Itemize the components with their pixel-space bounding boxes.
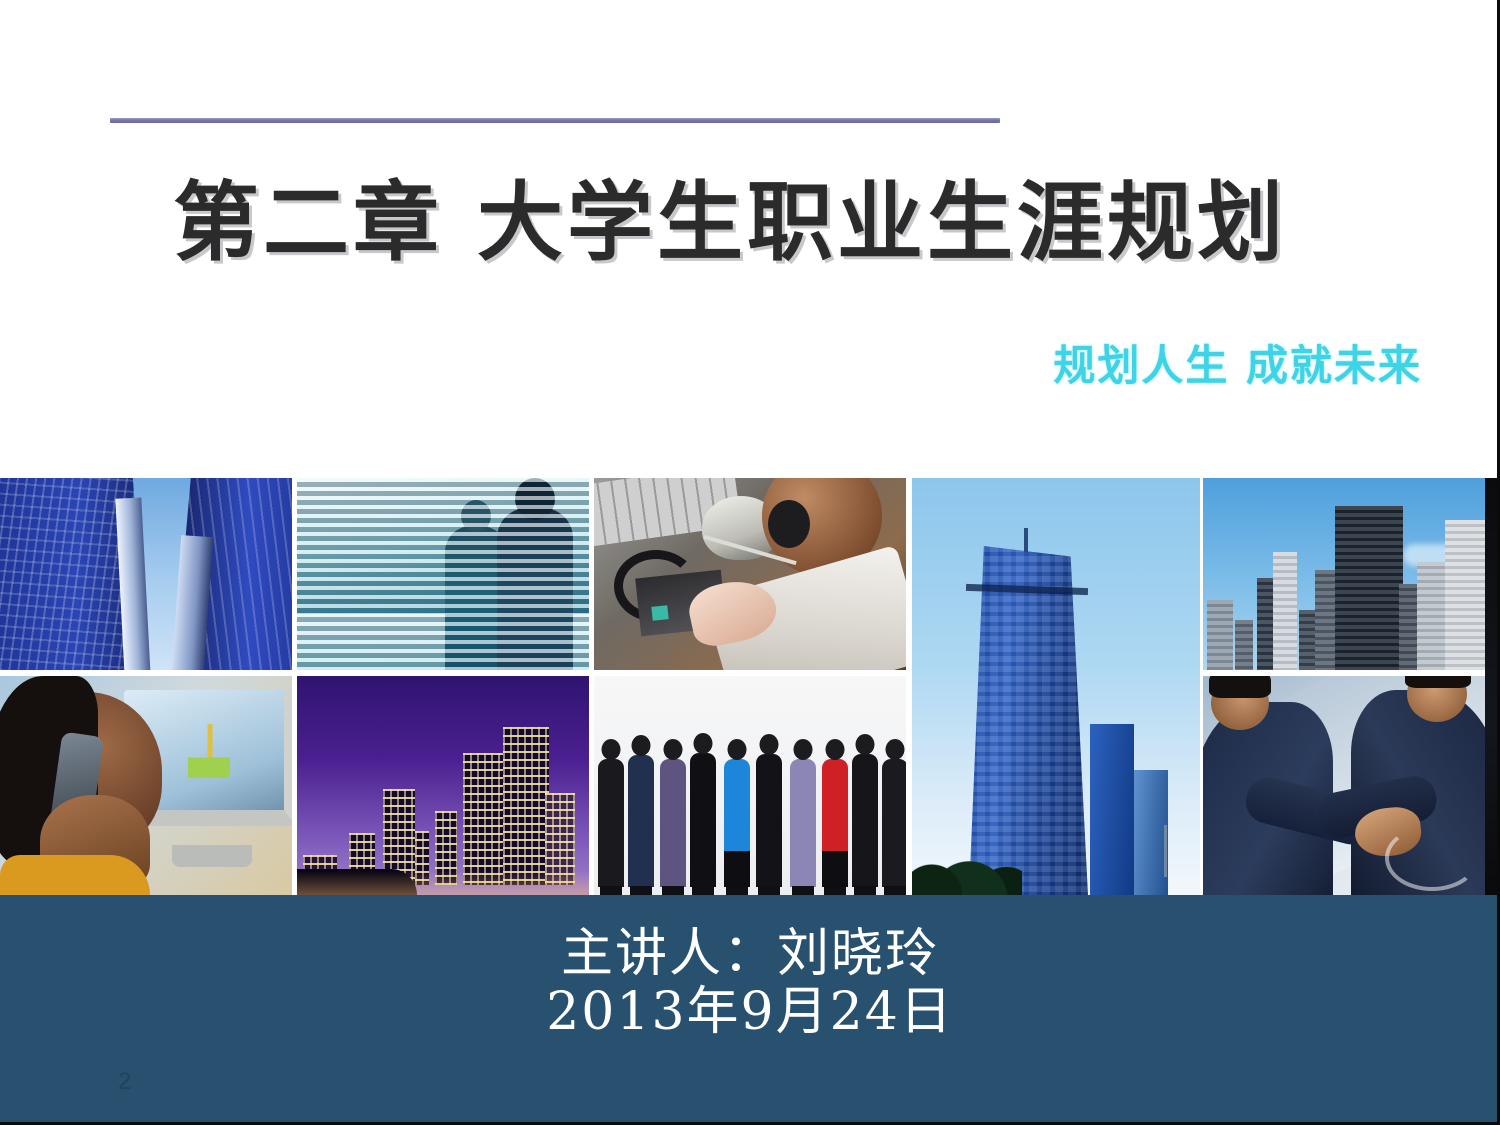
night-building [503,727,549,885]
skyline-building [1335,506,1403,670]
woman-shirt [0,855,150,895]
skyline-building [1445,520,1485,670]
businessmen-handshake-photo [1203,676,1485,895]
presentation-slide: 第二章 大学生职业生涯规划 规划人生 成就未来 [0,0,1500,1125]
skyscrapers-looking-up-photo [0,478,292,670]
foreground-trees [912,847,1022,895]
skyline-building [1417,562,1447,670]
woman-on-phone-at-monitor-photo [0,676,292,895]
logo-swoosh [1385,825,1479,891]
main-tower [964,546,1088,895]
monitor-stand [172,845,252,867]
blue-glass-tower-photo [912,478,1200,895]
row-of-business-people-photo [594,676,906,895]
office-workers-behind-blinds-photo [297,478,589,670]
person-figure [690,753,716,887]
city-skyline-daytime-photo [1203,478,1485,670]
collage-right-edge [1485,478,1500,895]
skyline-building [1207,600,1233,670]
footer-text-block: 主讲人：刘晓玲 2013年9月24日 [0,925,1500,1041]
skyline-building [1273,552,1297,670]
page-title: 第二章 大学生职业生涯规划 [0,175,1460,271]
secondary-tower [1090,724,1134,895]
night-building [463,753,505,885]
person-figure [790,759,816,887]
person-skirt [822,851,848,887]
person-figure [660,759,686,887]
page-number: 2 [118,1068,131,1096]
purple-night-city-photo [297,676,589,895]
presenter-line: 主讲人：刘晓玲 [0,925,1500,983]
headset-earpiece [768,500,810,548]
date-line: 2013年9月24日 [0,983,1500,1041]
tertiary-tower [1134,770,1168,895]
street-glow [297,871,589,895]
person-figure [882,759,906,887]
title-divider-rule [110,118,1000,123]
tower-antenna [1024,528,1028,552]
person-figure [628,755,654,887]
venetian-blinds-overlay [297,478,589,670]
hands-on-phone-headset-desk-photo [594,478,906,670]
person-figure [852,754,878,887]
person-figure [598,759,624,887]
slide-subtitle: 规划人生 成就未来 [1053,332,1422,393]
person-figure [756,754,782,887]
skyline-building [1299,610,1315,670]
light-pole [1164,825,1167,877]
image-collage [0,478,1500,895]
on-screen-chart [188,724,230,778]
skyline-building [1235,620,1253,670]
person-skirt [724,851,750,887]
keypad-button [651,605,668,621]
